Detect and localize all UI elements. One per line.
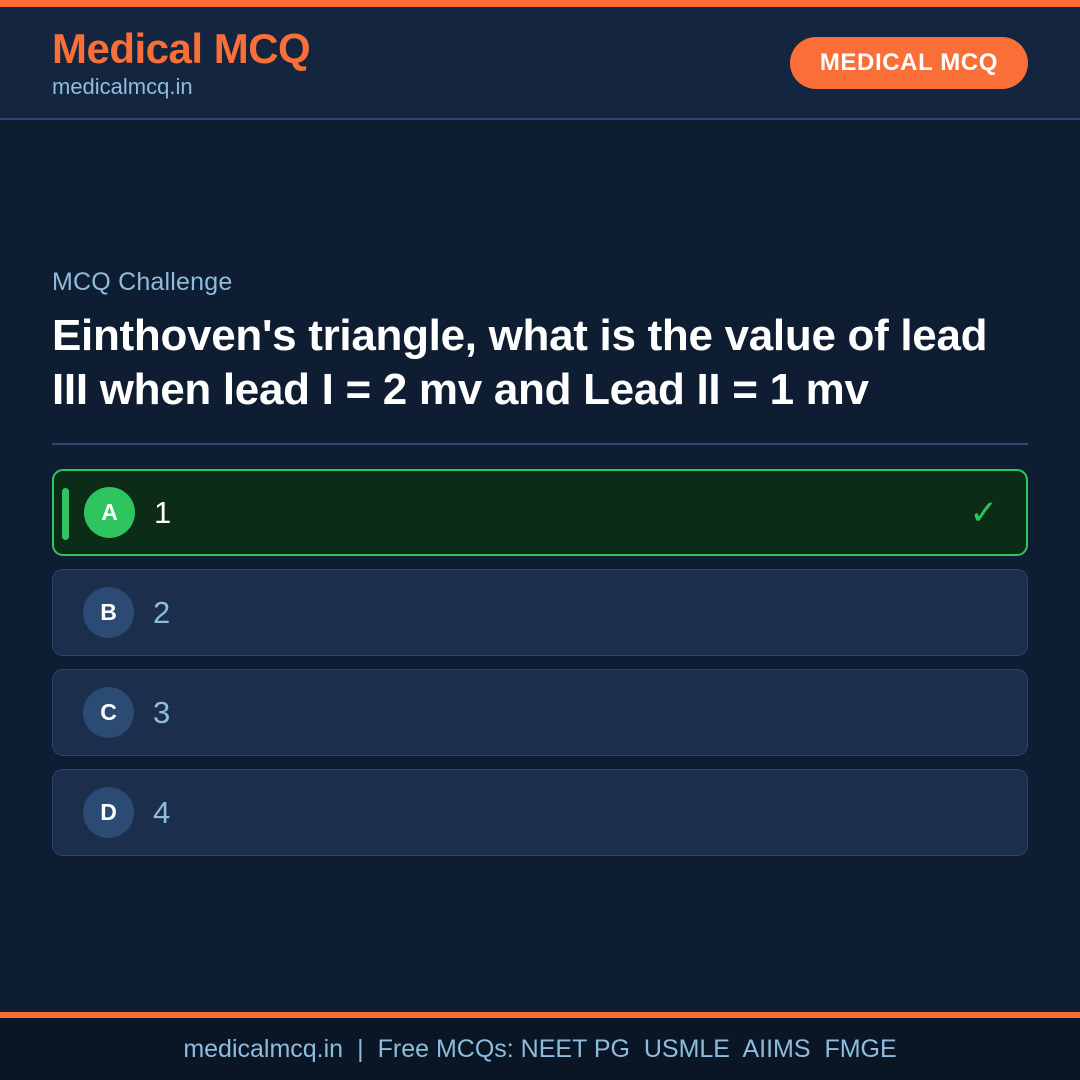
option-letter-badge: B bbox=[83, 587, 134, 638]
option-label: 4 bbox=[153, 795, 999, 831]
option-d[interactable]: D 4 ✓ bbox=[52, 769, 1028, 856]
brand-title: Medical MCQ bbox=[52, 28, 310, 70]
footer: medicalmcq.in | Free MCQs: NEET PG USMLE… bbox=[0, 1018, 1080, 1080]
option-c[interactable]: C 3 ✓ bbox=[52, 669, 1028, 756]
brand-subtitle: medicalmcq.in bbox=[52, 76, 310, 98]
option-label: 1 bbox=[154, 495, 970, 531]
check-icon: ✓ bbox=[970, 496, 999, 530]
content-area: MCQ Challenge Einthoven's triangle, what… bbox=[0, 120, 1080, 1012]
brand-badge: MEDICAL MCQ bbox=[790, 37, 1028, 89]
footer-site: medicalmcq.in bbox=[183, 1035, 343, 1064]
top-accent-bar bbox=[0, 0, 1080, 7]
question-text: Einthoven's triangle, what is the value … bbox=[52, 309, 1012, 417]
footer-links: Free MCQs: NEET PG USMLE AIIMS FMGE bbox=[378, 1035, 897, 1064]
question-divider bbox=[52, 443, 1028, 445]
option-b[interactable]: B 2 ✓ bbox=[52, 569, 1028, 656]
option-letter-badge: A bbox=[84, 487, 135, 538]
question-kicker: MCQ Challenge bbox=[52, 268, 1028, 297]
options-list: A 1 ✓ B 2 ✓ C 3 ✓ D 4 ✓ bbox=[52, 469, 1028, 856]
option-letter-badge: D bbox=[83, 787, 134, 838]
header: Medical MCQ medicalmcq.in MEDICAL MCQ bbox=[0, 7, 1080, 120]
mcq-card: Medical MCQ medicalmcq.in MEDICAL MCQ MC… bbox=[0, 0, 1080, 1080]
selected-accent-bar bbox=[62, 488, 69, 540]
option-label: 3 bbox=[153, 695, 999, 731]
footer-separator: | bbox=[343, 1035, 378, 1064]
option-a[interactable]: A 1 ✓ bbox=[52, 469, 1028, 556]
option-label: 2 bbox=[153, 595, 999, 631]
option-letter-badge: C bbox=[83, 687, 134, 738]
brand-block: Medical MCQ medicalmcq.in bbox=[52, 28, 310, 98]
question-block: MCQ Challenge Einthoven's triangle, what… bbox=[52, 268, 1028, 445]
